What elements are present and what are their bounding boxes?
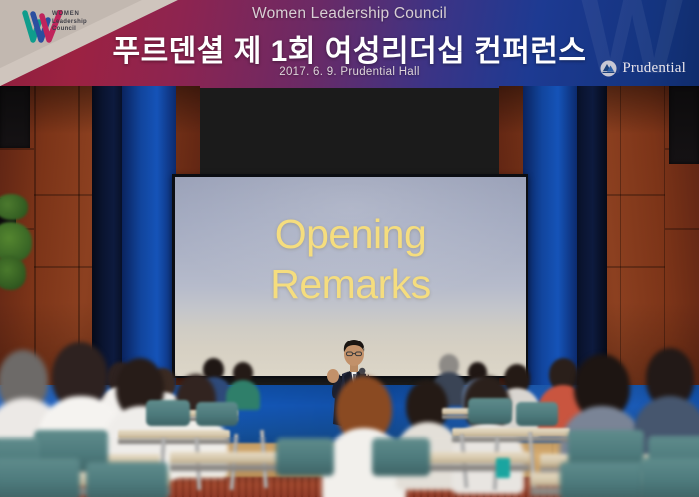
banner-subtitle: Women Leadership Council [0,5,699,23]
wall-display-left [0,86,30,148]
wall-display-right [669,86,699,164]
banner-date-venue: 2017. 6. 9. Prudential Hall [0,66,699,78]
prudential-name: Prudential [622,60,686,77]
plant-icon [0,194,28,220]
chair [468,398,512,424]
foreground-blur [0,437,699,497]
desk [452,428,570,437]
prudential-logo: Prudential [600,60,686,77]
chair [516,402,558,426]
event-photo: W WOMEN Leadership Council Women Leaders… [0,0,699,497]
chair [196,402,238,426]
slide-text: Opening Remarks [175,209,526,309]
blue-drape-right [523,86,577,386]
prudential-rock-icon [600,60,617,77]
blue-drape-left [122,86,176,386]
chair [146,400,190,426]
plant-icon [0,256,26,290]
event-banner: W WOMEN Leadership Council Women Leaders… [0,0,699,88]
banner-title: 푸르덴셜 제 1회 여성리더십 컨퍼런스 [0,26,699,70]
auditorium: Opening Remarks [0,86,699,497]
slide-line-1: Opening [175,209,526,259]
slide-line-2: Remarks [175,259,526,309]
